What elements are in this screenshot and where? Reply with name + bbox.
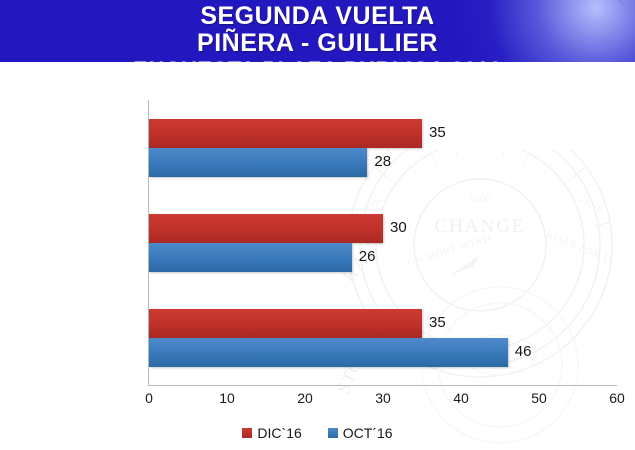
bar-value-label: 35 (429, 124, 446, 141)
x-axis-tick-label: 60 (597, 390, 635, 406)
legend-label: DIC`16 (257, 425, 301, 441)
page-title-line-2: PIÑERA - GUILLIER (0, 29, 635, 58)
bar-group: Alejandro Guilller3528 (149, 100, 617, 195)
bar-dic16[interactable] (149, 119, 422, 148)
bar-oct16[interactable] (149, 148, 367, 177)
bar-dic16[interactable] (149, 309, 422, 338)
legend-item[interactable]: OCT´16 (328, 425, 393, 441)
x-axis-tick-label: 50 (519, 390, 559, 406)
legend-swatch-icon (242, 428, 252, 438)
x-axis-line (148, 385, 617, 386)
bar-value-label: 28 (374, 153, 391, 170)
header-banner: www.cadem.cl SEGUNDA VUELTA PIÑERA - GUI… (0, 0, 635, 62)
page-title-line-1: SEGUNDA VUELTA (0, 2, 635, 31)
legend-swatch-icon (328, 428, 338, 438)
bar-chart: Alejandro Guilller3528Sebastian Piñera30… (0, 62, 635, 450)
x-axis-tick-label: 10 (207, 390, 247, 406)
bar-value-label: 35 (429, 314, 446, 331)
x-axis-tick-label: 20 (285, 390, 325, 406)
bar-oct16[interactable] (149, 243, 352, 272)
legend-label: OCT´16 (343, 425, 393, 441)
x-axis-tick-label: 40 (441, 390, 481, 406)
chart-legend: DIC`16OCT´16 (0, 425, 635, 441)
bar-dic16[interactable] (149, 214, 383, 243)
legend-item[interactable]: DIC`16 (242, 425, 301, 441)
bar-group: NS/NR/ No vota3546 (149, 290, 617, 385)
bar-group: Sebastian Piñera3026 (149, 195, 617, 290)
x-axis-tick-label: 0 (129, 390, 169, 406)
bar-oct16[interactable] (149, 338, 508, 367)
bar-value-label: 46 (515, 343, 532, 360)
x-axis-tick-label: 30 (363, 390, 403, 406)
plot-area: Alejandro Guilller3528Sebastian Piñera30… (149, 100, 617, 385)
bar-value-label: 30 (390, 219, 407, 236)
bar-value-label: 26 (359, 248, 376, 265)
